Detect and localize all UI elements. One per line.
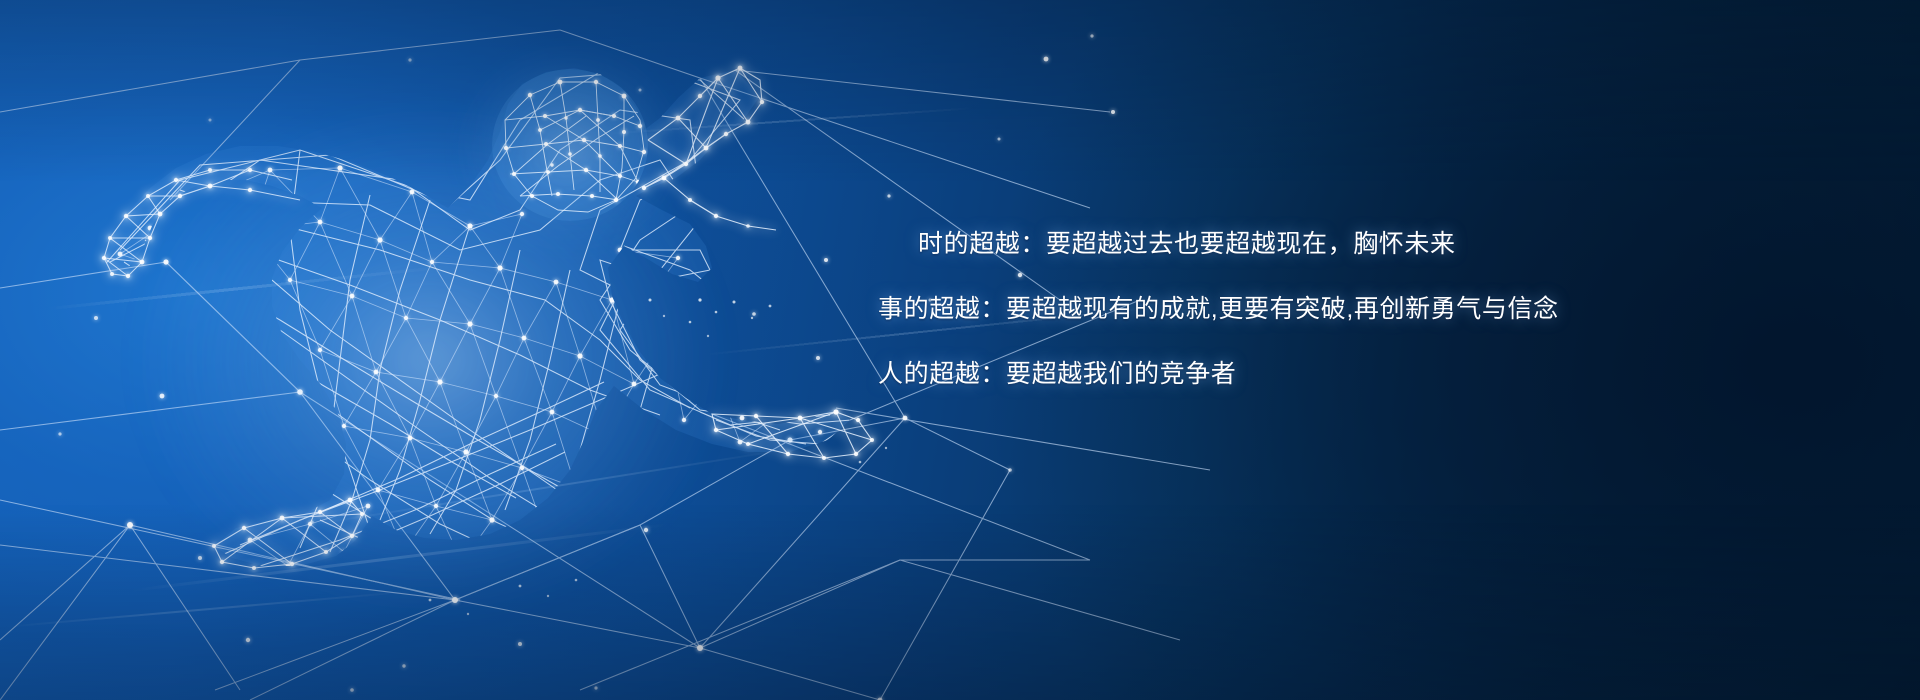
hero-banner: 时的超越：要超越过去也要超越现在，胸怀未来 事的超越：要超越现有的成就,更要有突… bbox=[0, 0, 1920, 700]
value-statement-time: 时的超越：要超越过去也要超越现在，胸怀未来 bbox=[918, 232, 1778, 257]
value-statement-list: 时的超越：要超越过去也要超越现在，胸怀未来 事的超越：要超越现有的成就,更要有突… bbox=[918, 232, 1778, 387]
value-statement-work: 事的超越：要超越现有的成就,更要有突破,再创新勇气与信念 bbox=[878, 297, 1778, 322]
value-statement-people: 人的超越：要超越我们的竞争者 bbox=[878, 362, 1778, 387]
